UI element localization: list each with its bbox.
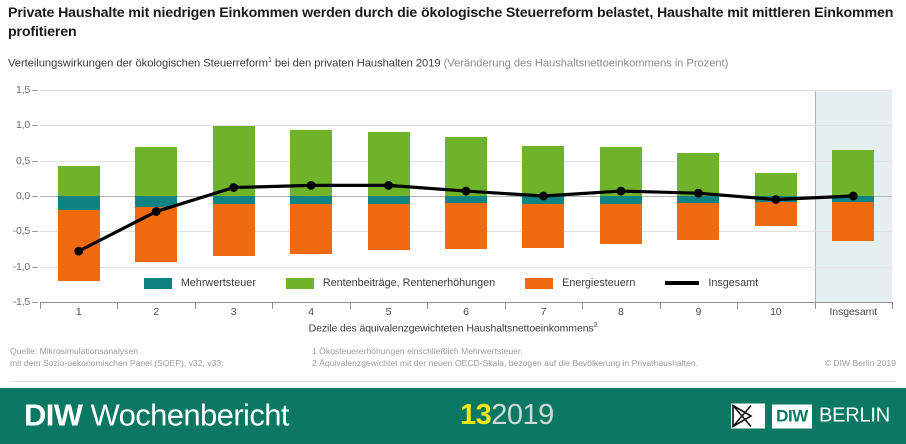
y-tick-mark [32, 161, 38, 162]
diw-banner: DIW Wochenbericht 132019 DIW BERLIN [0, 388, 906, 444]
footer-divider [10, 381, 896, 382]
x-axis-title: Dezile des äquivalenzgewichteten Haushal… [0, 322, 906, 335]
x-tick-mark [272, 302, 273, 309]
y-tick-label: -0,5 [0, 225, 30, 237]
page-title: Private Haushalte mit niedrigen Einkomme… [8, 4, 898, 42]
x-axis-tick-label: 2 [153, 306, 159, 318]
legend-item[interactable]: Rentenbeiträge, Rentenerhöhungen [286, 277, 495, 289]
line-data-point [152, 207, 161, 216]
legend-swatch-icon [286, 278, 314, 289]
footnotes: 1 Ökosteuererhöhungen einschließlich Meh… [312, 346, 698, 369]
legend-line-icon [665, 281, 699, 285]
footnote-1: 1 Ökosteuererhöhungen einschließlich Meh… [312, 346, 698, 358]
x-tick-mark [660, 302, 661, 309]
y-tick-label: -1,5 [0, 296, 30, 308]
y-tick-mark [32, 267, 38, 268]
copyright-note: © DIW Berlin 2019 [825, 358, 896, 370]
chart-subtitle: Verteilungswirkungen der ökologischen St… [8, 54, 898, 71]
line-data-point [694, 189, 703, 198]
x-axis-tick-label: 7 [541, 306, 547, 318]
y-tick-label: 0,0 [0, 190, 30, 202]
y-tick-label: 0,5 [0, 155, 30, 167]
banner-title: DIW Wochenbericht [24, 397, 289, 433]
chart-notes: Quelle: Mikrosimulationsanalysen mit dem… [0, 346, 906, 380]
line-data-point [849, 192, 858, 201]
line-data-point [229, 183, 238, 192]
banner-title-rest: Wochenbericht [82, 397, 288, 432]
subtitle-main: Verteilungswirkungen der ökologischen St… [8, 58, 268, 70]
line-data-point [462, 187, 471, 196]
x-axis-tick-label: 6 [463, 306, 469, 318]
x-axis-tick-label: 8 [618, 306, 624, 318]
legend-item[interactable]: Mehrwertsteuer [144, 277, 256, 289]
x-axis-tick-label: 9 [695, 306, 701, 318]
banner-title-bold: DIW [24, 397, 82, 432]
logo-berlin-text: BERLIN [819, 405, 890, 428]
source-line-1: Quelle: Mikrosimulationsanalysen [10, 346, 224, 358]
y-tick-label: -1,0 [0, 261, 30, 273]
legend-label: Mehrwertsteuer [181, 277, 256, 289]
diw-logo-glyph-icon [731, 404, 765, 429]
line-data-point [539, 192, 548, 201]
line-data-point [617, 187, 626, 196]
x-tick-mark [815, 302, 816, 309]
x-axis-tick-label: 10 [770, 306, 781, 318]
y-tick-mark [32, 231, 38, 232]
x-tick-mark [582, 302, 583, 309]
legend-item[interactable]: Energiesteuern [525, 277, 635, 289]
x-axis-tick-label: 1 [76, 306, 82, 318]
legend-item[interactable]: Insgesamt [665, 277, 758, 289]
line-data-point [771, 195, 780, 204]
x-axis-tick-label: 5 [386, 306, 392, 318]
legend-swatch-icon [525, 278, 553, 289]
x-axis-tick-label: 3 [231, 306, 237, 318]
x-tick-mark [427, 302, 428, 309]
chart-page: Private Haushalte mit niedrigen Einkomme… [0, 0, 906, 444]
y-tick-label: 1,5 [0, 84, 30, 96]
x-tick-mark [737, 302, 738, 309]
source-note: Quelle: Mikrosimulationsanalysen mit dem… [10, 346, 224, 369]
banner-issue-number: 13 [460, 399, 491, 431]
y-tick-mark [32, 196, 38, 197]
x-axis-line [40, 302, 892, 303]
footnote-2: 2 Äquivalenzgewichtet mit der neuen OECD… [312, 358, 698, 370]
x-tick-mark [117, 302, 118, 309]
subtitle-main-cont: bei den privaten Haushalten 2019 [272, 58, 444, 70]
x-tick-mark [350, 302, 351, 309]
x-axis-tick-label: 4 [308, 306, 314, 318]
logo-diw-text: DIW [772, 404, 812, 428]
line-data-point [74, 247, 83, 256]
y-tick-label: 1,0 [0, 119, 30, 131]
diw-berlin-logo: DIW BERLIN [731, 404, 890, 429]
legend-label: Rentenbeiträge, Rentenerhöhungen [323, 277, 495, 289]
x-tick-mark [195, 302, 196, 309]
x-axis-footnote-marker: 2 [594, 322, 598, 329]
line-data-point [384, 181, 393, 190]
x-tick-mark [892, 302, 893, 309]
chart-plot-area: 1,51,00,50,0-0,5-1,0-1,5 [40, 90, 892, 302]
y-tick-mark [32, 125, 38, 126]
diw-logo-mark-icon [731, 404, 765, 429]
legend-label: Energiesteuern [562, 277, 635, 289]
chart-legend: MehrwertsteuerRentenbeiträge, Rentenerhö… [40, 274, 892, 292]
x-axis-tick-label: Insgesamt [829, 306, 877, 318]
x-tick-mark [40, 302, 41, 309]
x-tick-mark [505, 302, 506, 309]
insgesamt-line-series [40, 90, 892, 302]
y-tick-mark [32, 90, 38, 91]
x-axis-title-text: Dezile des äquivalenzgewichteten Haushal… [309, 323, 594, 335]
legend-swatch-icon [144, 278, 172, 289]
banner-issue-year: 132019 [460, 399, 554, 432]
subtitle-paren: (Veränderung des Haushaltsnettoeinkommen… [444, 58, 729, 70]
source-line-2: mit dem Sozio-oekonomischen Panel (SOEP)… [10, 358, 224, 370]
line-data-point [307, 181, 316, 190]
banner-year: 2019 [491, 399, 554, 431]
y-tick-mark [32, 302, 38, 303]
legend-label: Insgesamt [708, 277, 758, 289]
